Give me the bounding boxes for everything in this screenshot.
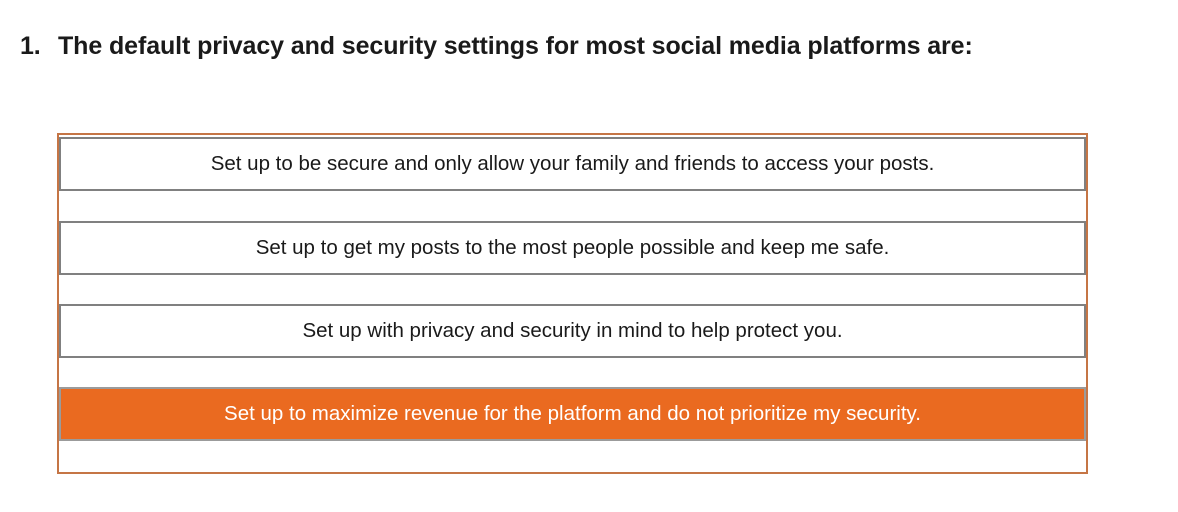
answer-option-4[interactable]: Set up to maximize revenue for the platf… — [59, 387, 1086, 441]
answer-option-label: Set up to be secure and only allow your … — [199, 151, 947, 177]
answer-option-2[interactable]: Set up to get my posts to the most peopl… — [59, 221, 1086, 275]
answer-option-label: Set up to get my posts to the most peopl… — [244, 235, 902, 261]
question-block: 1. The default privacy and security sett… — [20, 27, 980, 66]
question-number: 1. — [20, 27, 58, 66]
quiz-page: 1. The default privacy and security sett… — [0, 0, 1178, 512]
answer-option-label: Set up with privacy and security in mind… — [290, 318, 854, 344]
answer-option-3[interactable]: Set up with privacy and security in mind… — [59, 304, 1086, 358]
answer-options-container: Set up to be secure and only allow your … — [57, 133, 1088, 474]
question-text: The default privacy and security setting… — [58, 27, 980, 66]
answer-option-label: Set up to maximize revenue for the platf… — [212, 401, 933, 427]
answer-option-1[interactable]: Set up to be secure and only allow your … — [59, 137, 1086, 191]
